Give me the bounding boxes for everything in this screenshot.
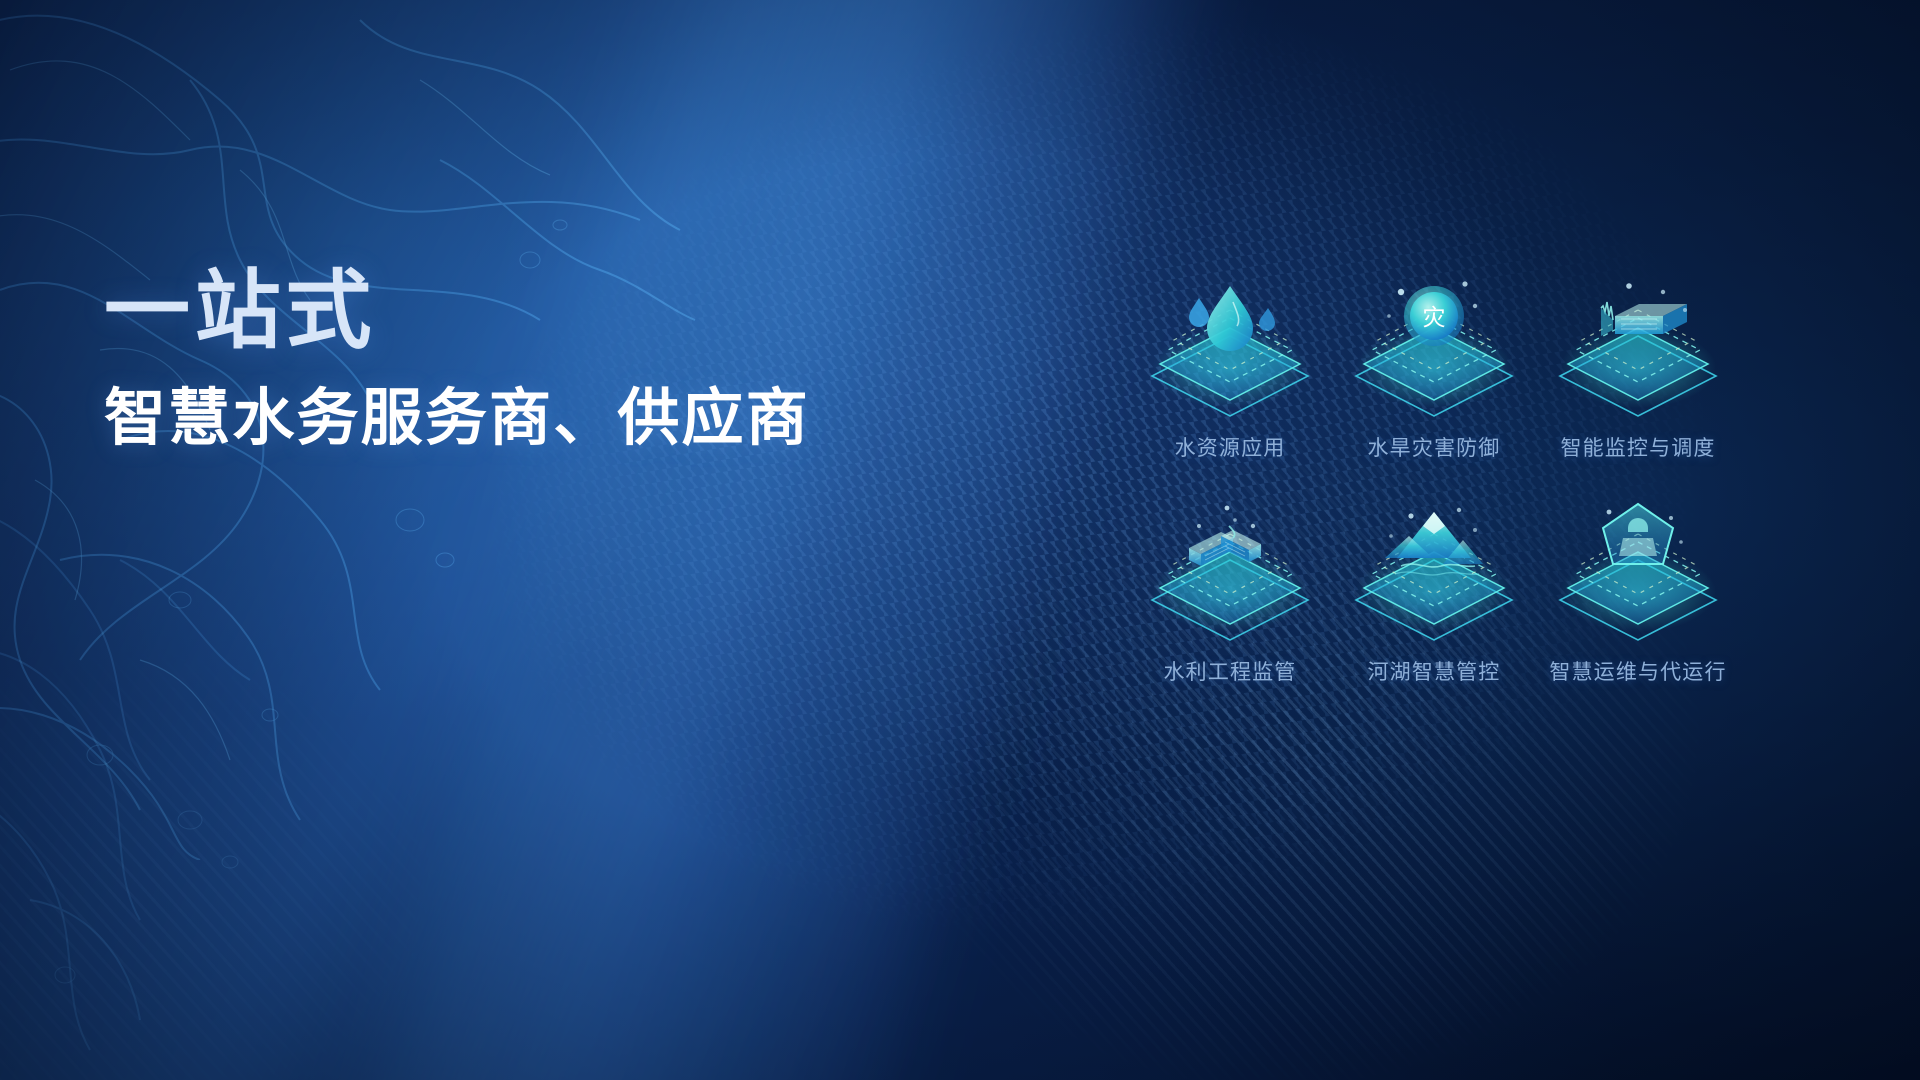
hydro-structure-icon bbox=[1137, 496, 1323, 646]
service-item-smart-operations[interactable]: 智慧运维与代运行 bbox=[1538, 496, 1738, 720]
service-label: 水利工程监管 bbox=[1164, 656, 1297, 686]
shield-pentagon-icon bbox=[1545, 496, 1731, 646]
service-label: 智能监控与调度 bbox=[1560, 432, 1715, 462]
hero-text-block: 一站式 智慧水务服务商、供应商 bbox=[104, 268, 810, 450]
dam-control-icon bbox=[1545, 272, 1731, 422]
service-item-hydro-engineering[interactable]: 水利工程监管 bbox=[1130, 496, 1330, 720]
service-item-water-resource[interactable]: 水资源应用 bbox=[1130, 272, 1330, 496]
service-label: 智慧运维与代运行 bbox=[1549, 656, 1726, 686]
water-droplet-icon bbox=[1137, 272, 1323, 422]
river-mountain-icon bbox=[1341, 496, 1527, 646]
service-label: 水旱灾害防御 bbox=[1368, 432, 1501, 462]
service-icon-grid: 水资源应用 bbox=[1130, 272, 1738, 720]
service-item-smart-monitoring[interactable]: 智能监控与调度 bbox=[1538, 272, 1738, 496]
disaster-sphere-icon: 灾 bbox=[1341, 272, 1527, 422]
disaster-glyph: 灾 bbox=[1423, 304, 1446, 330]
service-label: 水资源应用 bbox=[1175, 432, 1286, 462]
slide-stage: 一站式 智慧水务服务商、供应商 bbox=[0, 0, 1920, 1080]
service-item-flood-drought-defense[interactable]: 灾 水旱灾害防御 bbox=[1334, 272, 1534, 496]
service-item-river-lake-management[interactable]: 河湖智慧管控 bbox=[1334, 496, 1534, 720]
service-label: 河湖智慧管控 bbox=[1368, 656, 1501, 686]
hero-subheadline: 智慧水务服务商、供应商 bbox=[104, 388, 810, 450]
hero-headline: 一站式 bbox=[104, 268, 810, 354]
